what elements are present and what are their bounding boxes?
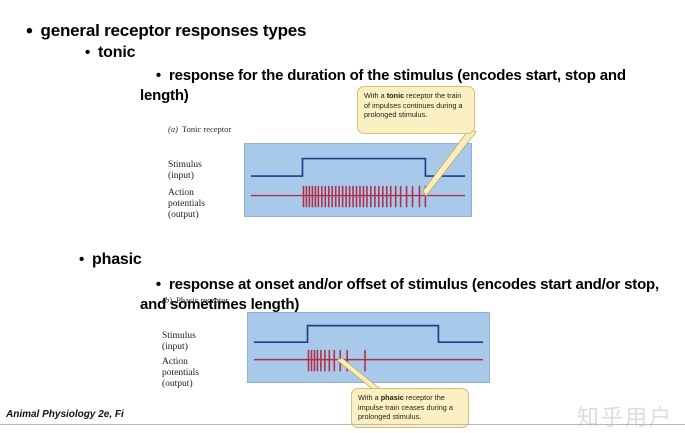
figure-b-label-action-potentials: Action potentials (output) — [162, 357, 199, 390]
figure-b-callout-bold: phasic — [381, 393, 404, 402]
figure-b-stimulus-trace — [254, 326, 483, 343]
figure-a-label-action-line2: (output) — [168, 210, 205, 221]
bullet-dot-icon — [156, 66, 161, 86]
figure-a-spike-train — [303, 186, 425, 207]
bullet-dot-icon — [79, 250, 84, 269]
figure-b-callout: With a phasic receptor the impulse train… — [351, 388, 469, 428]
figure-a-label-action-potentials: Action potentials (output) — [168, 188, 205, 221]
outline-label-phasic: phasic — [92, 251, 142, 268]
figure-a-caption-text: Tonic receptor — [182, 124, 231, 134]
figure-a-label-action-line1: Action potentials — [168, 188, 205, 210]
bullet-dot-icon — [156, 275, 161, 295]
figure-a-callout-before: With a — [364, 91, 387, 100]
figure-b-callout-before: With a — [358, 393, 381, 402]
bullet-dot-icon — [85, 43, 90, 62]
figure-a-callout-bold: tonic — [387, 91, 404, 100]
figure-b-caption-text: Phasic receptor — [176, 295, 228, 305]
outline-label-tonic: tonic — [98, 44, 135, 61]
outline-bullet-phasic: phasic — [62, 231, 142, 288]
watermark: 知乎用户 — [577, 400, 673, 432]
figure-b-label-action-line2: (output) — [162, 379, 199, 390]
figure-a-callout: With a tonic receptor the train of impul… — [357, 86, 475, 134]
bullet-dot-icon — [26, 22, 32, 42]
figure-a-caption: (a) Tonic receptor — [168, 124, 231, 134]
outline-bullet-tonic: tonic — [68, 24, 135, 81]
figure-a-panel-letter: (a) — [168, 124, 178, 134]
slide-canvas: general receptor responses types tonic r… — [0, 0, 685, 433]
figure-a-callout-pointer-icon — [414, 128, 478, 198]
footer-source-text: Animal Physiology 2e, Fi — [6, 409, 124, 420]
footer-divider — [0, 424, 685, 425]
figure-b-panel-letter: (b) — [162, 295, 172, 305]
figure-b-label-action-line1: Action potentials — [162, 357, 199, 379]
figure-a-label-stimulus: Stimulus (input) — [168, 160, 202, 182]
figure-b-label-stimulus: Stimulus (input) — [162, 331, 196, 353]
figure-b-caption: (b) Phasic receptor — [162, 295, 228, 305]
